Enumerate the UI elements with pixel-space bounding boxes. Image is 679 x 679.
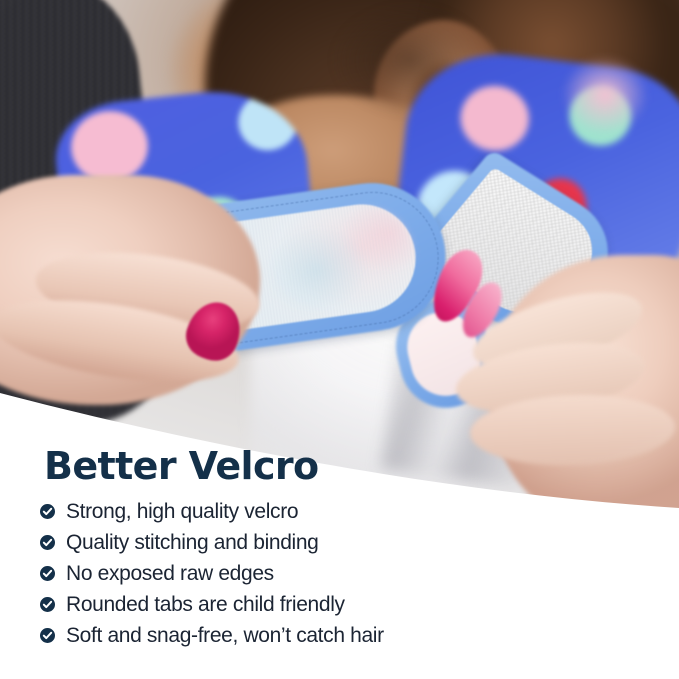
list-item: Soft and snag-free, won’t catch hair [40,620,600,651]
page-title: Better Velcro [44,444,319,488]
check-circle-icon [40,597,55,612]
list-item-label: Quality stitching and binding [66,531,319,555]
check-circle-icon [40,566,55,581]
check-circle-icon [40,628,55,643]
list-item: No exposed raw edges [40,558,600,589]
list-item-label: Soft and snag-free, won’t catch hair [66,624,384,648]
list-item: Strong, high quality velcro [40,496,600,527]
list-item-label: Strong, high quality velcro [66,500,298,524]
list-item-label: Rounded tabs are child friendly [66,593,345,617]
product-infographic: Better Velcro Strong, high quality velcr… [0,0,679,679]
check-circle-icon [40,535,55,550]
panel-content: Better Velcro Strong, high quality velcr… [0,0,679,679]
check-circle-icon [40,504,55,519]
list-item: Rounded tabs are child friendly [40,589,600,620]
list-item-label: No exposed raw edges [66,562,274,586]
list-item: Quality stitching and binding [40,527,600,558]
feature-list: Strong, high quality velcro Quality stit… [40,496,600,651]
